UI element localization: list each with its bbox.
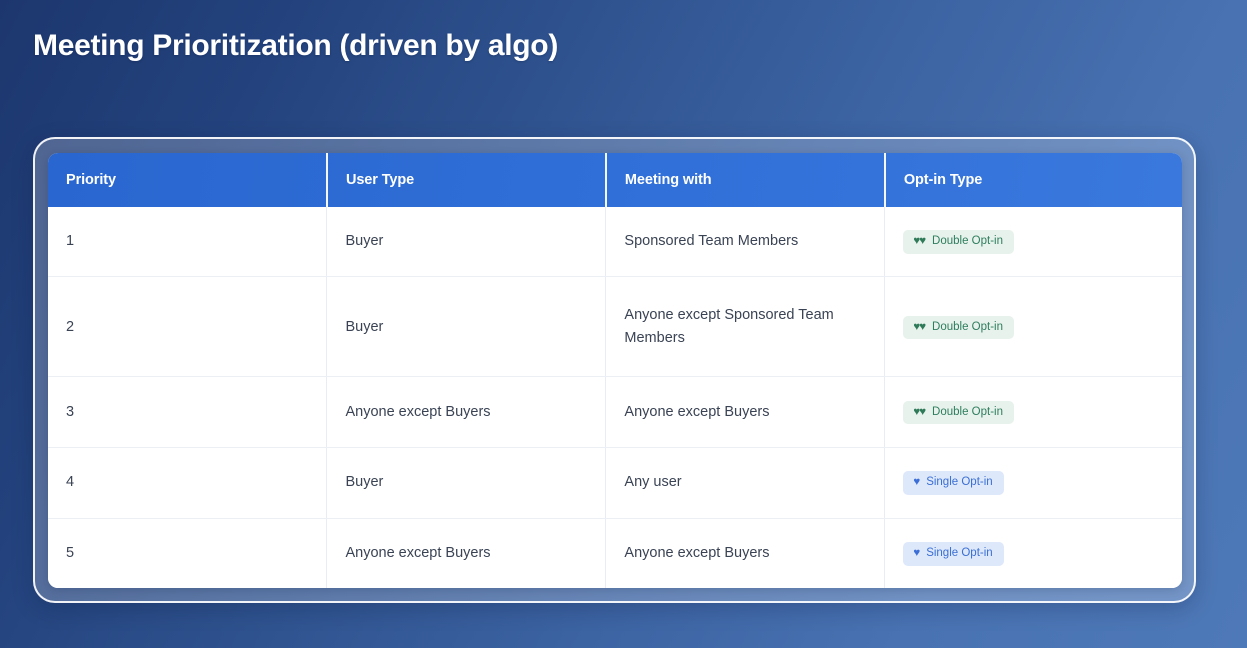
column-header-user-type[interactable]: User Type xyxy=(327,153,606,207)
double-heart-icon: ♥♥ xyxy=(913,407,925,419)
table-row: 1 Buyer Sponsored Team Members ♥♥ Double… xyxy=(48,207,1182,277)
cell-opt-in-type: ♥♥ Double Opt-in xyxy=(885,377,1182,448)
table-frame: Priority User Type Meeting with Opt-in T… xyxy=(33,137,1196,603)
cell-user-type: Buyer xyxy=(327,447,606,518)
cell-opt-in-type: ♥♥ Double Opt-in xyxy=(885,277,1182,377)
table-row: 5 Anyone except Buyers Anyone except Buy… xyxy=(48,518,1182,588)
cell-meeting-with: Any user xyxy=(606,447,885,518)
single-heart-icon: ♥ xyxy=(913,477,919,489)
cell-user-type: Anyone except Buyers xyxy=(327,518,606,588)
cell-user-type: Buyer xyxy=(327,207,606,277)
single-heart-icon: ♥ xyxy=(913,548,919,560)
status-badge: ♥ Single Opt-in xyxy=(903,471,1003,495)
cell-user-type: Anyone except Buyers xyxy=(327,377,606,448)
table-body: 1 Buyer Sponsored Team Members ♥♥ Double… xyxy=(48,207,1182,588)
status-badge-label: Double Opt-in xyxy=(932,407,1003,419)
status-badge-label: Double Opt-in xyxy=(932,236,1003,248)
table-header: Priority User Type Meeting with Opt-in T… xyxy=(48,153,1182,207)
table-card: Priority User Type Meeting with Opt-in T… xyxy=(48,153,1182,588)
status-badge: ♥ Single Opt-in xyxy=(903,542,1003,566)
status-badge: ♥♥ Double Opt-in xyxy=(903,401,1014,425)
table-row: 3 Anyone except Buyers Anyone except Buy… xyxy=(48,377,1182,448)
cell-opt-in-type: ♥♥ Double Opt-in xyxy=(885,207,1182,277)
table-header-row: Priority User Type Meeting with Opt-in T… xyxy=(48,153,1182,207)
cell-priority: 2 xyxy=(48,277,327,377)
status-badge-label: Single Opt-in xyxy=(926,548,992,560)
cell-priority: 3 xyxy=(48,377,327,448)
column-header-priority[interactable]: Priority xyxy=(48,153,327,207)
cell-user-type: Buyer xyxy=(327,277,606,377)
table-row: 4 Buyer Any user ♥ Single Opt-in xyxy=(48,447,1182,518)
cell-meeting-with: Anyone except Sponsored Team Members xyxy=(606,277,885,377)
cell-meeting-with: Anyone except Buyers xyxy=(606,377,885,448)
column-header-opt-in-type[interactable]: Opt-in Type xyxy=(885,153,1182,207)
column-header-meeting-with[interactable]: Meeting with xyxy=(606,153,885,207)
page-title: Meeting Prioritization (driven by algo) xyxy=(33,29,558,63)
status-badge-label: Double Opt-in xyxy=(932,322,1003,334)
cell-opt-in-type: ♥ Single Opt-in xyxy=(885,518,1182,588)
status-badge: ♥♥ Double Opt-in xyxy=(903,230,1014,254)
double-heart-icon: ♥♥ xyxy=(913,322,925,334)
status-badge-label: Single Opt-in xyxy=(926,477,992,489)
table-row: 2 Buyer Anyone except Sponsored Team Mem… xyxy=(48,277,1182,377)
status-badge: ♥♥ Double Opt-in xyxy=(903,316,1014,340)
cell-opt-in-type: ♥ Single Opt-in xyxy=(885,447,1182,518)
cell-priority: 1 xyxy=(48,207,327,277)
cell-meeting-with: Anyone except Buyers xyxy=(606,518,885,588)
cell-priority: 4 xyxy=(48,447,327,518)
cell-meeting-with: Sponsored Team Members xyxy=(606,207,885,277)
prioritization-table: Priority User Type Meeting with Opt-in T… xyxy=(48,153,1182,588)
cell-priority: 5 xyxy=(48,518,327,588)
double-heart-icon: ♥♥ xyxy=(913,236,925,248)
